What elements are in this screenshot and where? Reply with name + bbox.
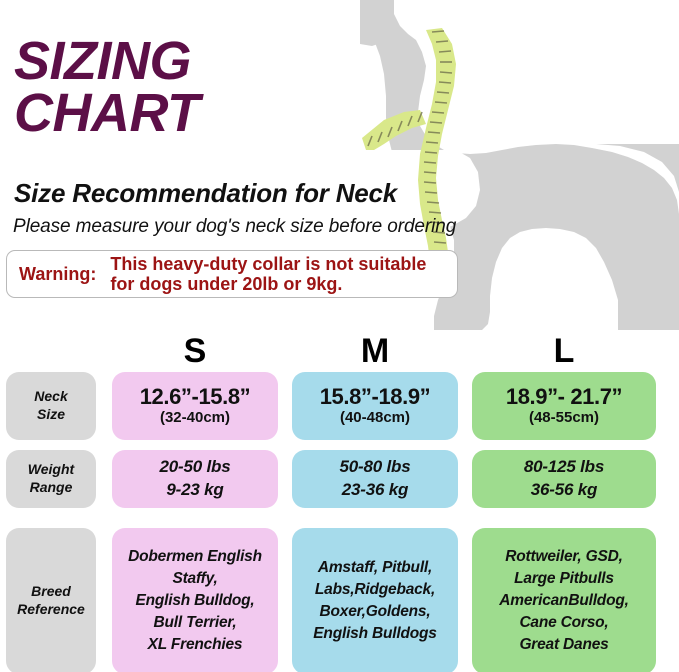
cell-weight-range-l: 80-125 lbs 36-56 kg <box>472 450 656 508</box>
neck-size-metric-l: (48-55cm) <box>529 409 599 427</box>
weight-line: 20-50 lbs <box>160 456 231 479</box>
cell-breed-reference-m: Amstaff, Pitbull, Labs,Ridgeback, Boxer,… <box>292 528 458 672</box>
row-label-line-1: Breed <box>31 583 71 601</box>
breed-line: Rottweiler, GSD, <box>505 546 622 568</box>
weight-line: 80-125 lbs <box>524 456 604 479</box>
title-line-2: CHART <box>14 88 484 140</box>
weight-line: 36-56 kg <box>531 479 597 502</box>
measure-instruction: Please measure your dog's neck size befo… <box>13 216 456 238</box>
warning-message-line-1: This heavy-duty collar is not suitable <box>110 254 426 274</box>
size-header-l: L <box>472 332 656 371</box>
breed-line: Large Pitbulls <box>514 568 614 590</box>
cell-breed-reference-l: Rottweiler, GSD, Large Pitbulls American… <box>472 528 656 672</box>
breed-line: Labs,Ridgeback, <box>315 579 435 601</box>
breed-line: XL Frenchies <box>148 634 243 656</box>
row-label-line-1: Weight <box>28 461 74 479</box>
row-label-breed-reference: Breed Reference <box>6 528 96 672</box>
size-header-m: M <box>292 332 458 371</box>
neck-size-metric-m: (40-48cm) <box>340 409 410 427</box>
row-label-line-1: Neck <box>34 388 67 406</box>
warning-box: Warning: This heavy-duty collar is not s… <box>6 250 458 298</box>
breed-line: Great Danes <box>519 634 608 656</box>
neck-size-value-l: 18.9”- 21.7” <box>506 385 622 408</box>
cell-weight-range-s: 20-50 lbs 9-23 kg <box>112 450 278 508</box>
breed-line: Dobermen English <box>128 546 262 568</box>
row-label-line-2: Reference <box>17 601 85 619</box>
breed-line: Staffy, <box>172 568 217 590</box>
breed-line: English Bulldogs <box>313 623 436 645</box>
subtitle: Size Recommendation for Neck <box>14 178 397 209</box>
row-label-line-2: Range <box>30 479 73 497</box>
warning-label: Warning: <box>7 264 96 285</box>
title-line-1: SIZING <box>14 36 484 88</box>
row-label-weight-range: Weight Range <box>6 450 96 508</box>
breed-line: Bull Terrier, <box>154 612 237 634</box>
warning-message: This heavy-duty collar is not suitable f… <box>96 254 426 294</box>
cell-weight-range-m: 50-80 lbs 23-36 kg <box>292 450 458 508</box>
cell-neck-size-l: 18.9”- 21.7” (48-55cm) <box>472 372 656 440</box>
cell-neck-size-s: 12.6”-15.8” (32-40cm) <box>112 372 278 440</box>
size-header-s: S <box>112 332 278 371</box>
breed-line: Boxer,Goldens, <box>320 601 431 623</box>
breed-line: English Bulldog, <box>135 590 254 612</box>
breed-line: Amstaff, Pitbull, <box>318 557 432 579</box>
warning-message-line-2: for dogs under 20lb or 9kg. <box>110 274 426 294</box>
page-title: SIZING CHART <box>14 36 484 140</box>
weight-line: 9-23 kg <box>166 479 223 502</box>
cell-breed-reference-s: Dobermen English Staffy, English Bulldog… <box>112 528 278 672</box>
cell-neck-size-m: 15.8”-18.9” (40-48cm) <box>292 372 458 440</box>
neck-size-value-s: 12.6”-15.8” <box>140 385 251 408</box>
weight-line: 23-36 kg <box>342 479 408 502</box>
weight-line: 50-80 lbs <box>340 456 411 479</box>
row-label-line-2: Size <box>37 406 65 424</box>
row-label-neck-size: Neck Size <box>6 372 96 440</box>
neck-size-value-m: 15.8”-18.9” <box>320 385 431 408</box>
breed-line: Cane Corso, <box>519 612 608 634</box>
breed-line: AmericanBulldog, <box>499 590 628 612</box>
neck-size-metric-s: (32-40cm) <box>160 409 230 427</box>
sizing-chart-page: SIZING CHART Size Recommendation for Nec… <box>0 0 679 672</box>
